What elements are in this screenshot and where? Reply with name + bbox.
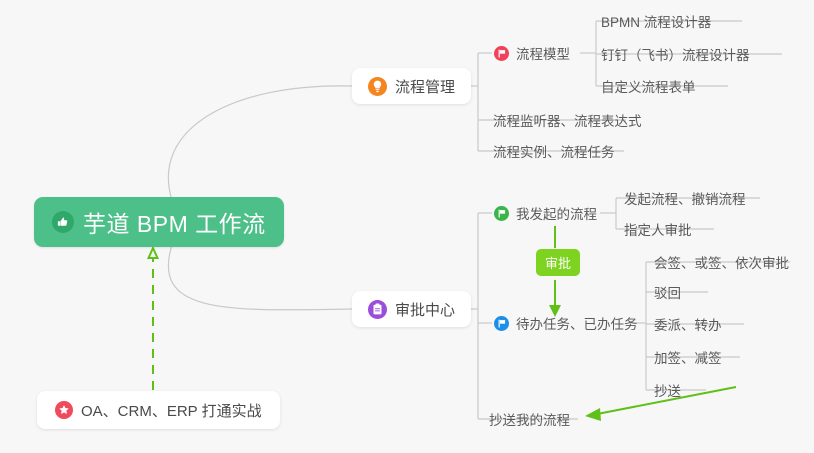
node-listener-expression[interactable]: 流程监听器、流程表达式: [489, 106, 646, 134]
node-label-bpmn-designer: BPMN 流程设计器: [601, 11, 711, 31]
clipboard-icon: [368, 300, 387, 319]
star-icon: [55, 401, 73, 419]
chip-label-approval: 审批: [545, 253, 571, 272]
node-label-listener-expression: 流程监听器、流程表达式: [493, 110, 642, 130]
node-label-designated-approver: 指定人审批: [624, 219, 692, 239]
node-label-instance-task: 流程实例、流程任务: [493, 141, 615, 161]
node-todo-done-tasks[interactable]: 待办任务、已办任务: [490, 309, 642, 337]
node-bpmn-designer[interactable]: BPMN 流程设计器: [597, 7, 715, 35]
node-delegate-transfer[interactable]: 委派、转办: [650, 310, 726, 338]
node-designated-approver[interactable]: 指定人审批: [620, 215, 696, 243]
branch-label-process-management: 流程管理: [395, 76, 455, 97]
link-root-to-shenpizhongxin: [168, 245, 352, 310]
floating-node-label: OA、CRM、ERP 打通实战: [81, 400, 262, 421]
branch-node-approval-center[interactable]: 审批中心: [352, 291, 471, 327]
node-custom-process-form[interactable]: 自定义流程表单: [597, 72, 700, 100]
root-node[interactable]: 芋道 BPM 工作流: [34, 197, 284, 247]
node-label-custom-process-form: 自定义流程表单: [601, 76, 696, 96]
node-my-initiated-processes[interactable]: 我发起的流程: [490, 199, 601, 227]
node-label-countersign-types: 会签、或签、依次审批: [654, 252, 789, 272]
node-label-cc-to-me: 抄送我的流程: [489, 409, 570, 429]
node-label-add-remove-sign: 加签、减签: [654, 347, 722, 367]
node-dingtalk-feishu-designer[interactable]: 钉钉（飞书）流程设计器: [597, 40, 754, 68]
node-instance-task[interactable]: 流程实例、流程任务: [489, 137, 619, 165]
chip-node-approval[interactable]: 审批: [536, 249, 580, 276]
flag-blue-icon: [494, 316, 509, 331]
node-process-model[interactable]: 流程模型: [490, 39, 574, 67]
thumbs-up-icon: [52, 211, 74, 233]
node-label-dingtalk-feishu-designer: 钉钉（飞书）流程设计器: [601, 44, 750, 64]
node-label-my-initiated-processes: 我发起的流程: [516, 203, 597, 223]
branch-node-process-management[interactable]: 流程管理: [352, 68, 471, 104]
node-label-todo-done-tasks: 待办任务、已办任务: [516, 313, 638, 333]
lightbulb-icon: [368, 77, 387, 96]
link-root-to-liuchengguanli: [168, 86, 352, 200]
branch-label-approval-center: 审批中心: [395, 299, 455, 320]
mindmap-canvas: 芋道 BPM 工作流 OA、CRM、ERP 打通实战 流程管理: [0, 0, 814, 453]
node-label-delegate-transfer: 委派、转办: [654, 314, 722, 334]
node-label-reject: 驳回: [654, 282, 681, 302]
floating-node-integration[interactable]: OA、CRM、ERP 打通实战: [37, 391, 280, 429]
node-label-cc: 抄送: [654, 380, 681, 400]
node-add-remove-sign[interactable]: 加签、减签: [650, 343, 726, 371]
node-label-process-model: 流程模型: [516, 43, 570, 63]
node-cc-to-me[interactable]: 抄送我的流程: [485, 405, 574, 433]
node-label-initiate-cancel-process: 发起流程、撤销流程: [624, 188, 746, 208]
flag-red-icon: [494, 46, 509, 61]
root-label: 芋道 BPM 工作流: [83, 205, 266, 239]
node-countersign-types[interactable]: 会签、或签、依次审批: [650, 248, 793, 276]
node-initiate-cancel-process[interactable]: 发起流程、撤销流程: [620, 184, 750, 212]
node-reject[interactable]: 驳回: [650, 278, 685, 306]
node-cc[interactable]: 抄送: [650, 376, 685, 404]
arrow-floating-to-root: [149, 248, 158, 390]
flag-green-icon: [494, 206, 509, 221]
